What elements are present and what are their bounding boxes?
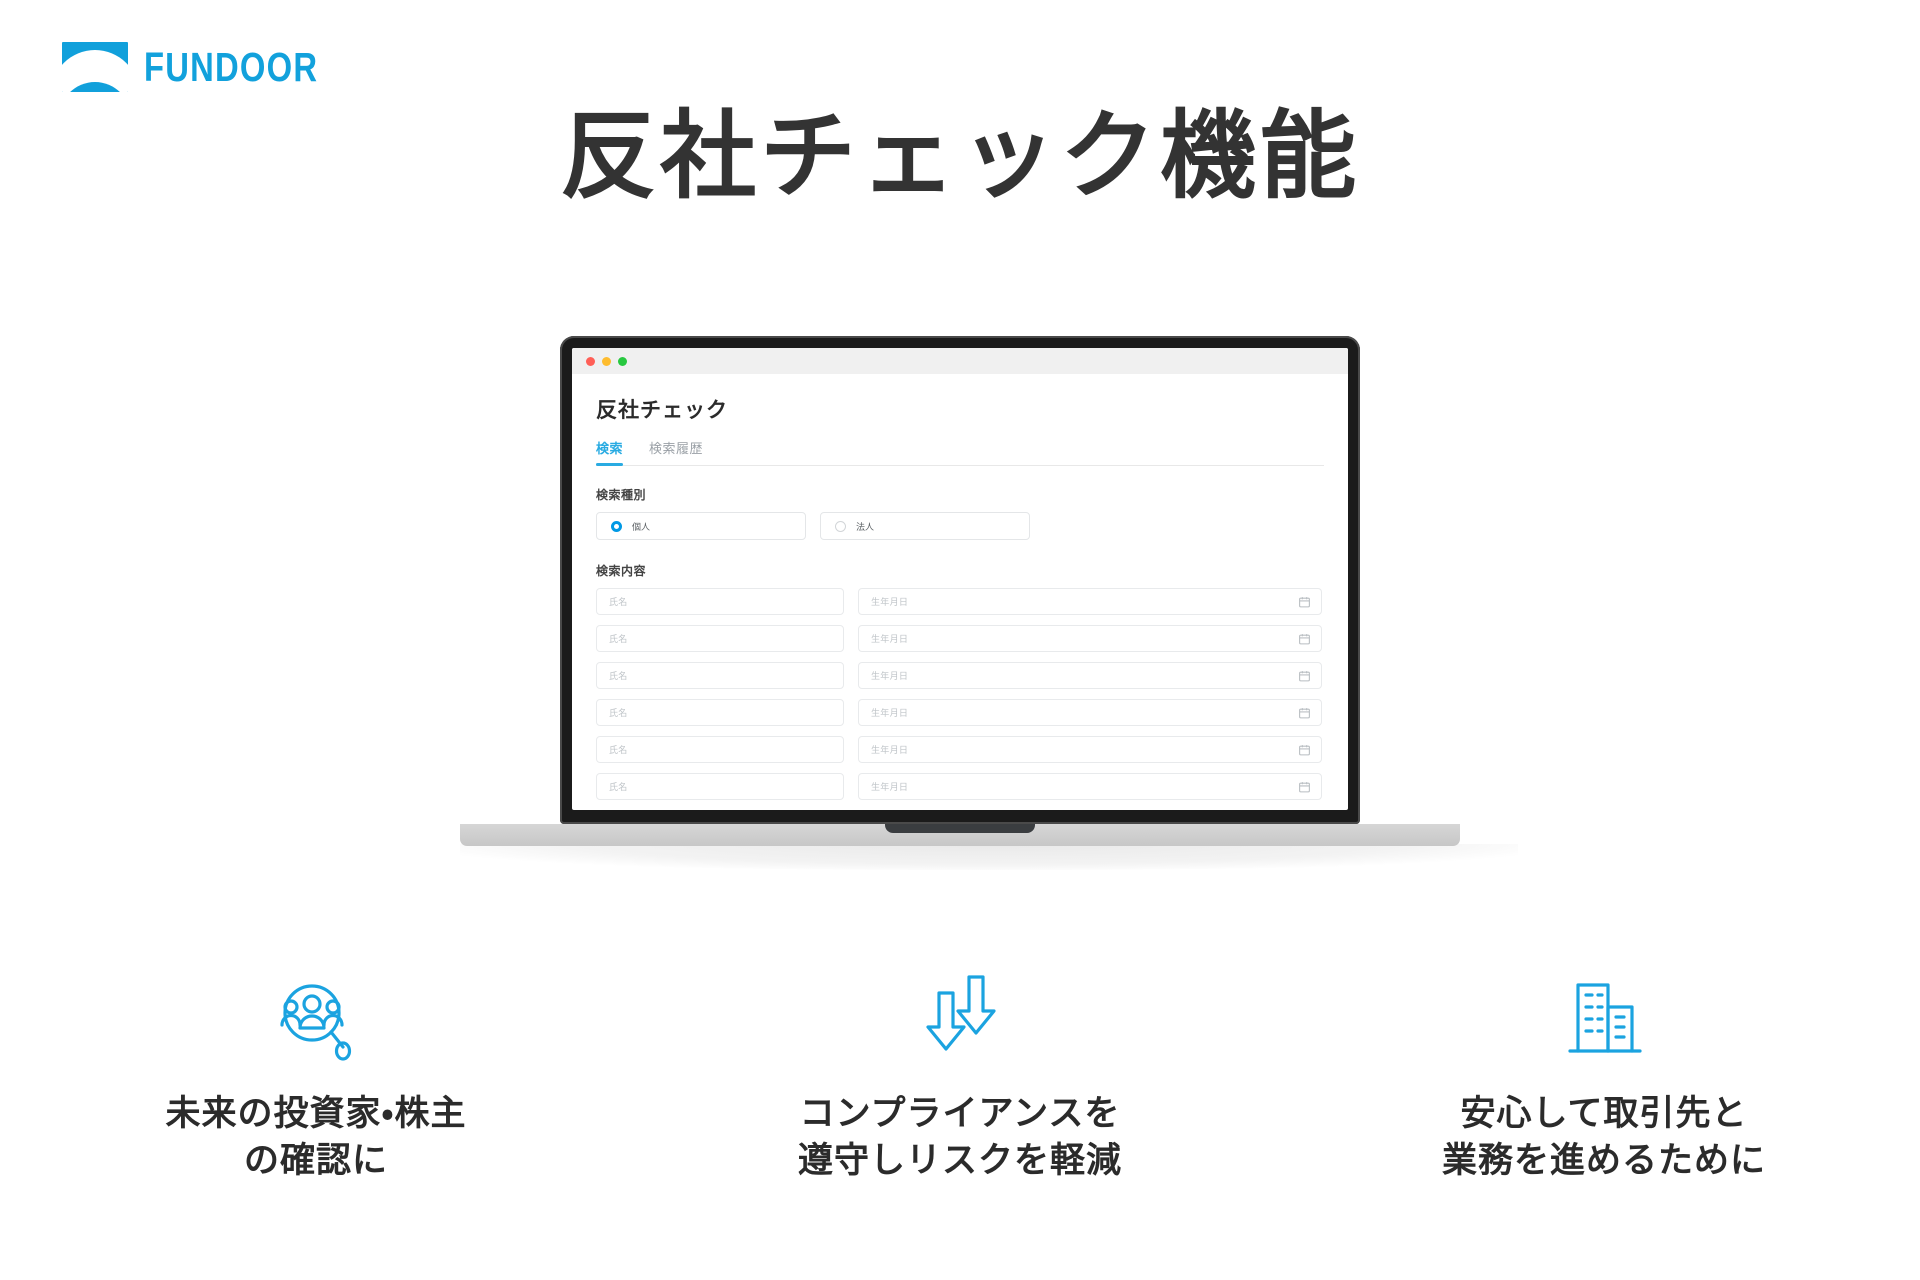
- search-row: 氏名 生年月日: [596, 625, 1324, 652]
- app-content: 反社チェック 検索 検索履歴 検索種別 個人 法人 検索内容: [572, 374, 1348, 810]
- birthdate-placeholder: 生年月日: [871, 632, 908, 645]
- name-placeholder: 氏名: [609, 669, 628, 682]
- name-placeholder: 氏名: [609, 780, 628, 793]
- radio-label-individual: 個人: [632, 520, 650, 533]
- name-placeholder: 氏名: [609, 706, 628, 719]
- name-input[interactable]: 氏名: [596, 662, 844, 689]
- search-type-radio-group: 個人 法人: [596, 512, 1324, 540]
- calendar-icon[interactable]: [1298, 706, 1311, 719]
- search-content-rows: 氏名 生年月日: [596, 588, 1324, 800]
- browser-title-bar: [572, 348, 1348, 374]
- tab-search-history[interactable]: 検索履歴: [649, 438, 703, 465]
- search-row: 氏名 生年月日: [596, 773, 1324, 800]
- fundoor-arch-mark-icon: [62, 42, 128, 92]
- birthdate-placeholder: 生年月日: [871, 780, 908, 793]
- radio-option-corporate[interactable]: 法人: [820, 512, 1030, 540]
- laptop-lid: 反社チェック 検索 検索履歴 検索種別 個人 法人 検索内容: [560, 336, 1360, 824]
- name-placeholder: 氏名: [609, 743, 628, 756]
- calendar-icon[interactable]: [1298, 595, 1311, 608]
- birthdate-placeholder: 生年月日: [871, 595, 908, 608]
- people-search-icon: [106, 965, 526, 1065]
- feature-label: 安心して取引先と 業務を進めるために: [1394, 1091, 1814, 1186]
- name-placeholder: 氏名: [609, 595, 628, 608]
- tab-search[interactable]: 検索: [596, 438, 623, 465]
- tab-bar: 検索 検索履歴: [596, 438, 1324, 466]
- name-placeholder: 氏名: [609, 632, 628, 645]
- search-row: 氏名 生年月日: [596, 699, 1324, 726]
- feature-label: 未来の投資家・株主 の確認に: [106, 1091, 526, 1186]
- laptop-mockup: 反社チェック 検索 検索履歴 検索種別 個人 法人 検索内容: [460, 336, 1460, 870]
- minimize-window-icon[interactable]: [602, 357, 611, 366]
- close-window-icon[interactable]: [586, 357, 595, 366]
- brand-name: FUNDOOR: [144, 44, 318, 91]
- search-row: 氏名 生年月日: [596, 588, 1324, 615]
- birthdate-placeholder: 生年月日: [871, 743, 908, 756]
- search-type-label: 検索種別: [596, 486, 1324, 503]
- name-input[interactable]: 氏名: [596, 736, 844, 763]
- name-input[interactable]: 氏名: [596, 588, 844, 615]
- radio-selected-icon: [611, 521, 622, 532]
- birthdate-input[interactable]: 生年月日: [858, 662, 1322, 689]
- calendar-icon[interactable]: [1298, 632, 1311, 645]
- birthdate-placeholder: 生年月日: [871, 706, 908, 719]
- feature-label-line1: 未来の投資家・株主: [106, 1091, 526, 1138]
- laptop-base: [460, 824, 1460, 846]
- laptop-screen: 反社チェック 検索 検索履歴 検索種別 個人 法人 検索内容: [572, 348, 1348, 810]
- name-input[interactable]: 氏名: [596, 773, 844, 800]
- radio-option-individual[interactable]: 個人: [596, 512, 806, 540]
- feature-list: 未来の投資家・株主 の確認に コンプライアンスを 遵守しリスクを軽減: [0, 965, 1920, 1186]
- radio-unselected-icon: [835, 521, 846, 532]
- birthdate-placeholder: 生年月日: [871, 669, 908, 682]
- birthdate-input[interactable]: 生年月日: [858, 699, 1322, 726]
- feature-label-line2: の確認に: [106, 1138, 526, 1185]
- feature-item-business-partner: 安心して取引先と 業務を進めるために: [1394, 965, 1814, 1186]
- laptop-shadow: [460, 844, 1518, 870]
- birthdate-input[interactable]: 生年月日: [858, 773, 1322, 800]
- radio-label-corporate: 法人: [856, 520, 874, 533]
- search-content-label: 検索内容: [596, 562, 1324, 579]
- app-page-title: 反社チェック: [596, 394, 1324, 424]
- calendar-icon[interactable]: [1298, 743, 1311, 756]
- name-input[interactable]: 氏名: [596, 699, 844, 726]
- maximize-window-icon[interactable]: [618, 357, 627, 366]
- brand-logo: FUNDOOR: [62, 42, 362, 92]
- calendar-icon[interactable]: [1298, 780, 1311, 793]
- birthdate-input[interactable]: 生年月日: [858, 588, 1322, 615]
- name-input[interactable]: 氏名: [596, 625, 844, 652]
- birthdate-input[interactable]: 生年月日: [858, 625, 1322, 652]
- birthdate-input[interactable]: 生年月日: [858, 736, 1322, 763]
- buildings-icon: [1394, 965, 1814, 1065]
- feature-item-investor-check: 未来の投資家・株主 の確認に: [106, 965, 526, 1186]
- feature-label-line1: 安心して取引先と: [1394, 1091, 1814, 1138]
- feature-label-line2: 遵守しリスクを軽減: [750, 1138, 1170, 1185]
- page-title: 反社チェック機能: [0, 104, 1920, 210]
- calendar-icon[interactable]: [1298, 669, 1311, 682]
- search-row: 氏名 生年月日: [596, 662, 1324, 689]
- feature-item-compliance: コンプライアンスを 遵守しリスクを軽減: [750, 965, 1170, 1186]
- feature-label: コンプライアンスを 遵守しリスクを軽減: [750, 1091, 1170, 1186]
- down-arrows-icon: [750, 965, 1170, 1065]
- feature-label-line2: 業務を進めるために: [1394, 1138, 1814, 1185]
- search-row: 氏名 生年月日: [596, 736, 1324, 763]
- feature-label-line1: コンプライアンスを: [750, 1091, 1170, 1138]
